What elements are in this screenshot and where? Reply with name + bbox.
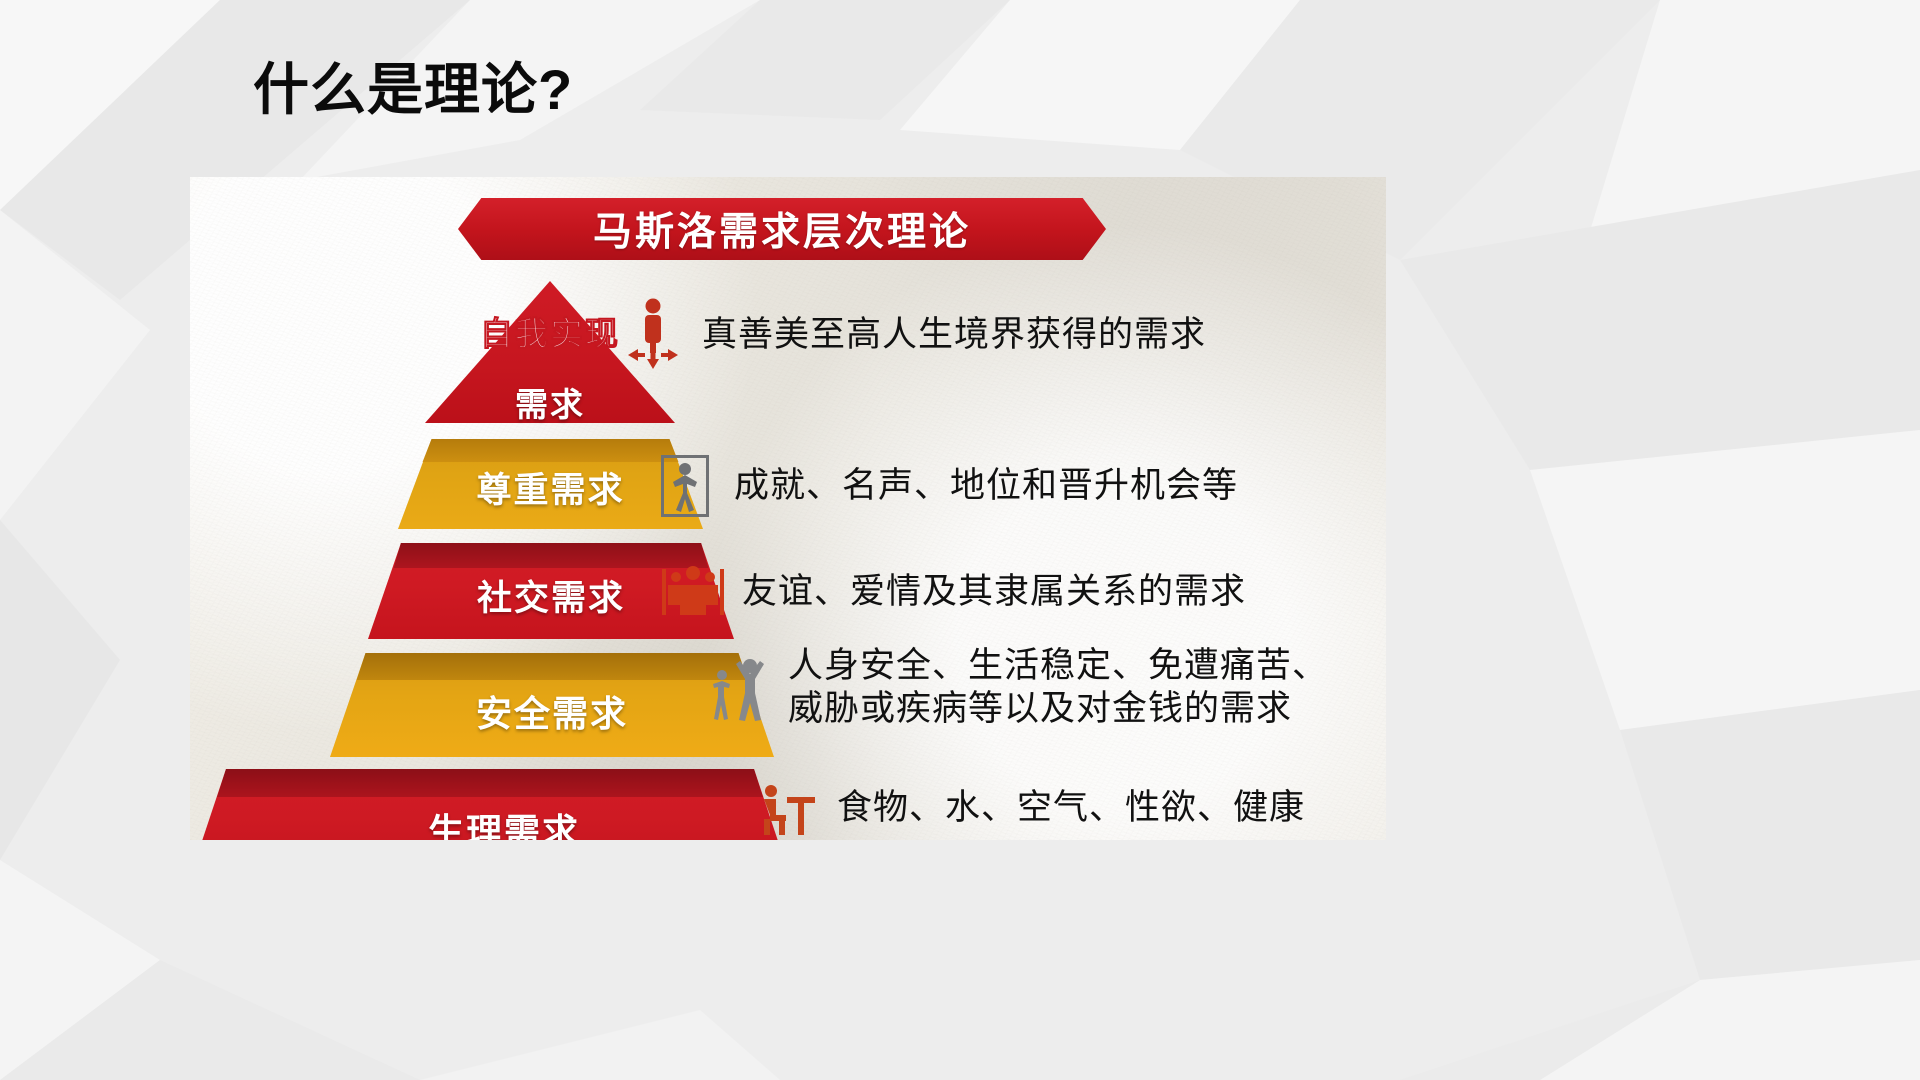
page-title: 什么是理论? bbox=[253, 58, 573, 122]
tier-label-social: 社交需求 bbox=[477, 580, 625, 618]
description-text-self-actualization: 真善美至高人生境界获得的需求 bbox=[702, 314, 1206, 357]
person-expand-arrows-icon bbox=[620, 297, 686, 373]
group-of-people-icon bbox=[660, 561, 726, 623]
description-row-safety: 人身安全、生活稳定、免遭痛苦、 威胁或疾病等以及对金钱的需求 bbox=[706, 645, 1328, 730]
description-row-self-actualization: 真善美至高人生境界获得的需求 bbox=[620, 297, 1206, 373]
description-text-esteem: 成就、名声、地位和晋升机会等 bbox=[734, 465, 1238, 508]
figure-banner: 马斯洛需求层次理论 bbox=[458, 198, 1106, 260]
figure-banner-title: 马斯洛需求层次理论 bbox=[593, 201, 971, 257]
description-text-social: 友谊、爱情及其隶属关系的需求 bbox=[742, 571, 1246, 614]
maslow-pyramid-figure: 马斯洛需求层次理论 自我实现 需求 尊重需求 社交需求 安全需求 bbox=[190, 177, 1386, 840]
tier-label-self-actualization: 自我实现 需求 bbox=[480, 280, 620, 458]
description-row-social: 友谊、爱情及其隶属关系的需求 bbox=[660, 561, 1246, 623]
description-text-physiological: 食物、水、空气、性欲、健康 bbox=[837, 787, 1305, 830]
tier-label-line2: 需求 bbox=[480, 387, 620, 423]
tier-label-line1: 自我实现 bbox=[480, 316, 620, 352]
person-in-frame-icon bbox=[652, 455, 718, 517]
two-people-icon bbox=[706, 653, 772, 723]
description-text-safety: 人身安全、生活稳定、免遭痛苦、 威胁或疾病等以及对金钱的需求 bbox=[788, 645, 1328, 730]
tier-label-esteem: 尊重需求 bbox=[476, 472, 624, 510]
pyramid-tier-physiological: 生理需求 bbox=[190, 769, 790, 840]
tier-label-physiological: 生理需求 bbox=[428, 813, 580, 840]
description-row-esteem: 成就、名声、地位和晋升机会等 bbox=[652, 455, 1238, 517]
tier-label-safety: 安全需求 bbox=[476, 695, 628, 734]
person-sitting-table-icon bbox=[755, 777, 821, 839]
description-row-physiological: 食物、水、空气、性欲、健康 bbox=[755, 777, 1305, 839]
tier-top-face bbox=[190, 769, 790, 797]
